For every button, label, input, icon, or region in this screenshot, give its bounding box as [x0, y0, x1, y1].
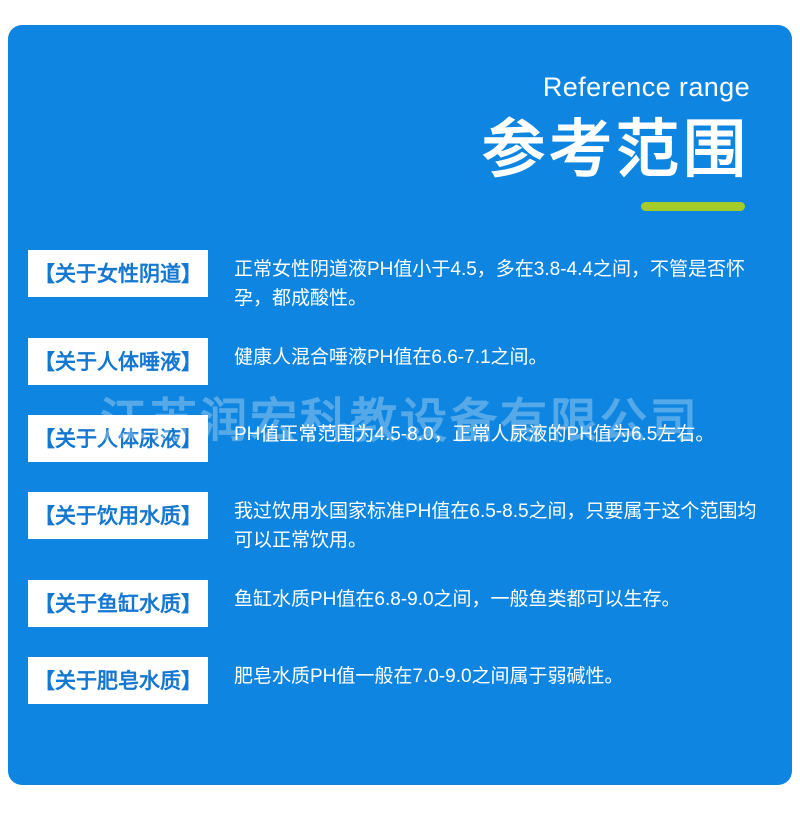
row-tag-label: 【关于人体尿液】: [28, 415, 208, 462]
row-tag-label: 【关于鱼缸水质】: [28, 580, 208, 627]
list-item: 【关于女性阴道】 正常女性阴道液PH值小于4.5，多在3.8-4.4之间，不管是…: [28, 250, 774, 313]
row-tag-label: 【关于人体唾液】: [28, 338, 208, 385]
list-item: 【关于饮用水质】 我过饮用水国家标准PH值在6.5-8.5之间，只要属于这个范围…: [28, 492, 774, 555]
row-tag-label: 【关于女性阴道】: [28, 250, 208, 297]
poster-header: Reference range 参考范围: [330, 73, 750, 216]
list-item: 【关于人体尿液】 PH值正常范围为4.5-8.0，正常人尿液的PH值为6.5左右…: [28, 415, 774, 462]
list-item: 【关于鱼缸水质】 鱼缸水质PH值在6.8-9.0之间，一般鱼类都可以生存。: [28, 580, 774, 627]
page-title: 参考范围: [330, 117, 750, 183]
reference-range-poster: Reference range 参考范围 【关于女性阴道】 正常女性阴道液PH值…: [8, 25, 792, 785]
accent-bar: [641, 202, 745, 211]
row-description: 健康人混合唾液PH值在6.6-7.1之间。: [208, 338, 774, 373]
header-eyebrow-text: Reference range: [330, 73, 750, 103]
row-description: 肥皂水质PH值一般在7.0-9.0之间属于弱碱性。: [208, 657, 774, 692]
list-item: 【关于人体唾液】 健康人混合唾液PH值在6.6-7.1之间。: [28, 338, 774, 385]
row-tag-label: 【关于肥皂水质】: [28, 657, 208, 704]
row-description: 正常女性阴道液PH值小于4.5，多在3.8-4.4之间，不管是否怀孕，都成酸性。: [208, 250, 774, 313]
row-tag-label: 【关于饮用水质】: [28, 492, 208, 539]
list-item: 【关于肥皂水质】 肥皂水质PH值一般在7.0-9.0之间属于弱碱性。: [28, 657, 774, 704]
row-description: 鱼缸水质PH值在6.8-9.0之间，一般鱼类都可以生存。: [208, 580, 774, 615]
row-description: PH值正常范围为4.5-8.0，正常人尿液的PH值为6.5左右。: [208, 415, 774, 450]
reference-range-list: 【关于女性阴道】 正常女性阴道液PH值小于4.5，多在3.8-4.4之间，不管是…: [28, 250, 774, 734]
row-description: 我过饮用水国家标准PH值在6.5-8.5之间，只要属于这个范围均可以正常饮用。: [208, 492, 774, 555]
